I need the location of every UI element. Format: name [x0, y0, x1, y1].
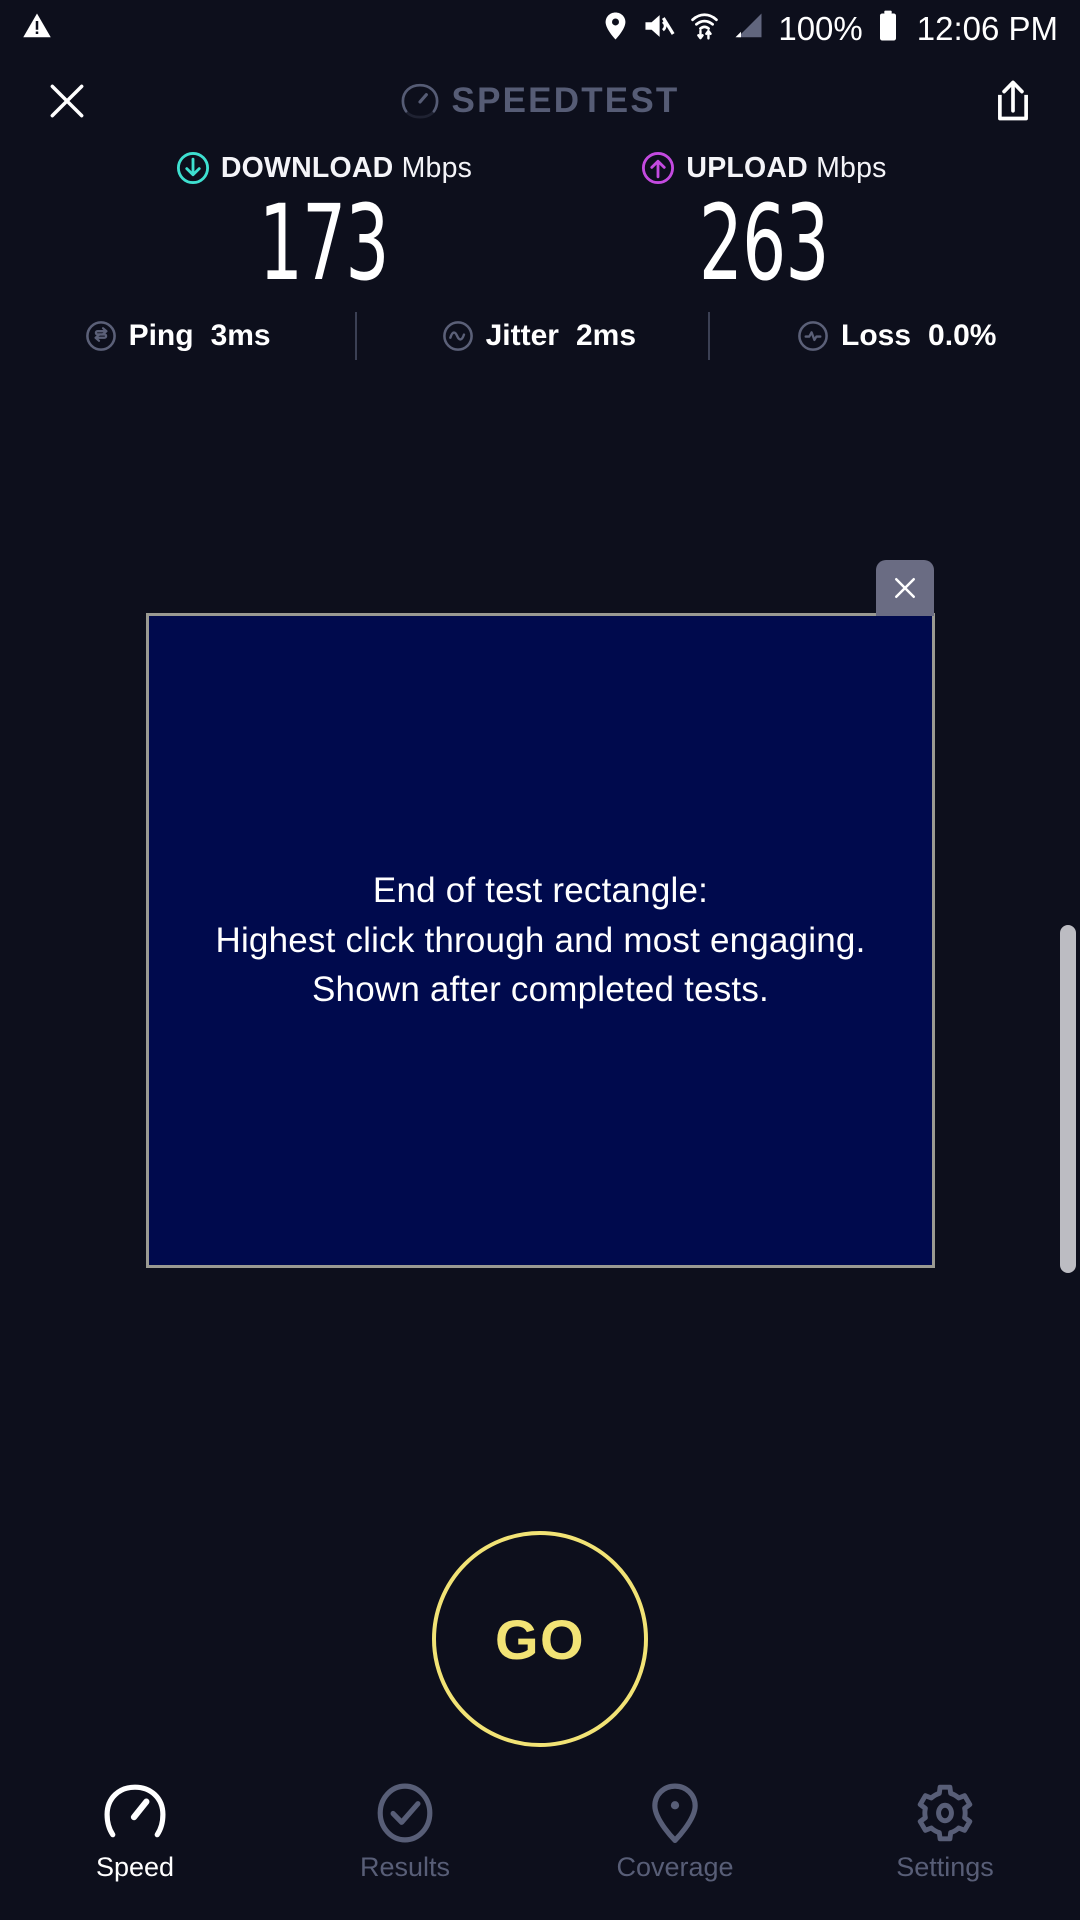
volume-mute-icon	[643, 11, 675, 46]
ping-stat: Ping 3ms	[84, 319, 271, 353]
warning-triangle-icon	[22, 11, 52, 46]
app-brand-title: SPEEDTEST	[0, 81, 1080, 121]
nav-item-settings[interactable]: Settings	[810, 1768, 1080, 1920]
jitter-label: Jitter	[486, 319, 559, 353]
stat-divider	[355, 312, 357, 360]
download-metric: DOWNLOAD Mbps 173	[140, 148, 508, 296]
ad-line-3: Shown after completed tests.	[215, 965, 865, 1015]
go-button-label: GO	[495, 1607, 585, 1672]
battery-percent-label: 100%	[778, 12, 862, 45]
system-status-bar: 100% 12:06 PM	[0, 0, 1080, 56]
ad-line-2: Highest click through and most engaging.	[215, 916, 865, 966]
check-circle-icon	[374, 1782, 436, 1844]
nav-label-speed: Speed	[96, 1852, 174, 1883]
vertical-scrollbar-thumb[interactable]	[1060, 925, 1076, 1273]
download-label: DOWNLOAD Mbps	[221, 152, 472, 185]
loss-stat: Loss 0.0%	[796, 319, 996, 353]
nav-item-coverage[interactable]: Coverage	[540, 1768, 810, 1920]
speedometer-icon	[401, 82, 439, 120]
share-result-button[interactable]	[986, 74, 1040, 128]
location-pin-icon	[602, 11, 629, 46]
ping-icon	[84, 319, 118, 353]
gear-icon	[914, 1782, 976, 1844]
cellular-signal-icon	[734, 12, 764, 45]
advertisement-banner[interactable]: End of test rectangle: Highest click thr…	[146, 613, 935, 1268]
close-test-button[interactable]	[40, 74, 94, 128]
nav-label-coverage: Coverage	[616, 1852, 733, 1883]
ping-value: 3ms	[211, 319, 271, 353]
nav-item-results[interactable]: Results	[270, 1768, 540, 1920]
wifi-transfer-icon	[689, 10, 720, 46]
download-upload-row: DOWNLOAD Mbps 173 UPLOAD Mbps 263	[0, 148, 1080, 296]
test-results-block: DOWNLOAD Mbps 173 UPLOAD Mbps 263	[0, 148, 1080, 362]
battery-full-icon	[877, 10, 899, 47]
ping-jitter-loss-row: Ping 3ms Jitter 2ms	[0, 310, 1080, 362]
speedometer-icon	[104, 1782, 166, 1844]
brand-label: SPEEDTEST	[452, 81, 680, 121]
nav-label-results: Results	[360, 1852, 450, 1883]
upload-arrow-icon	[641, 151, 675, 185]
bottom-navigation-bar: Speed Results Coverage	[0, 1768, 1080, 1920]
nav-item-speed[interactable]: Speed	[0, 1768, 270, 1920]
location-pin-icon	[644, 1782, 706, 1844]
upload-value: 263	[699, 190, 829, 296]
download-arrow-icon	[176, 151, 210, 185]
jitter-icon	[441, 319, 475, 353]
speedtest-app-screen: 100% 12:06 PM SPEEDTEST	[0, 0, 1080, 1920]
ad-close-x-icon	[890, 573, 920, 603]
close-x-icon	[45, 79, 89, 123]
download-value: 173	[259, 190, 389, 296]
status-bar-right-icons: 100% 12:06 PM	[602, 10, 1058, 47]
stat-divider	[708, 312, 710, 360]
app-header-bar: SPEEDTEST	[0, 58, 1080, 144]
advertisement-text: End of test rectangle: Highest click thr…	[215, 866, 865, 1015]
loss-label: Loss	[841, 319, 911, 353]
status-bar-left-icons	[22, 11, 52, 46]
status-bar-clock: 12:06 PM	[917, 12, 1058, 45]
nav-label-settings: Settings	[896, 1852, 994, 1883]
loss-value: 0.0%	[928, 319, 996, 353]
jitter-value: 2ms	[576, 319, 636, 353]
share-upload-icon	[992, 78, 1034, 124]
go-button[interactable]: GO	[432, 1531, 648, 1747]
ping-label: Ping	[129, 319, 194, 353]
ad-line-1: End of test rectangle:	[215, 866, 865, 916]
loss-icon	[796, 319, 830, 353]
jitter-stat: Jitter 2ms	[441, 319, 636, 353]
upload-metric: UPLOAD Mbps 263	[580, 148, 948, 296]
ad-close-button[interactable]	[876, 560, 934, 616]
upload-label: UPLOAD Mbps	[686, 152, 886, 185]
